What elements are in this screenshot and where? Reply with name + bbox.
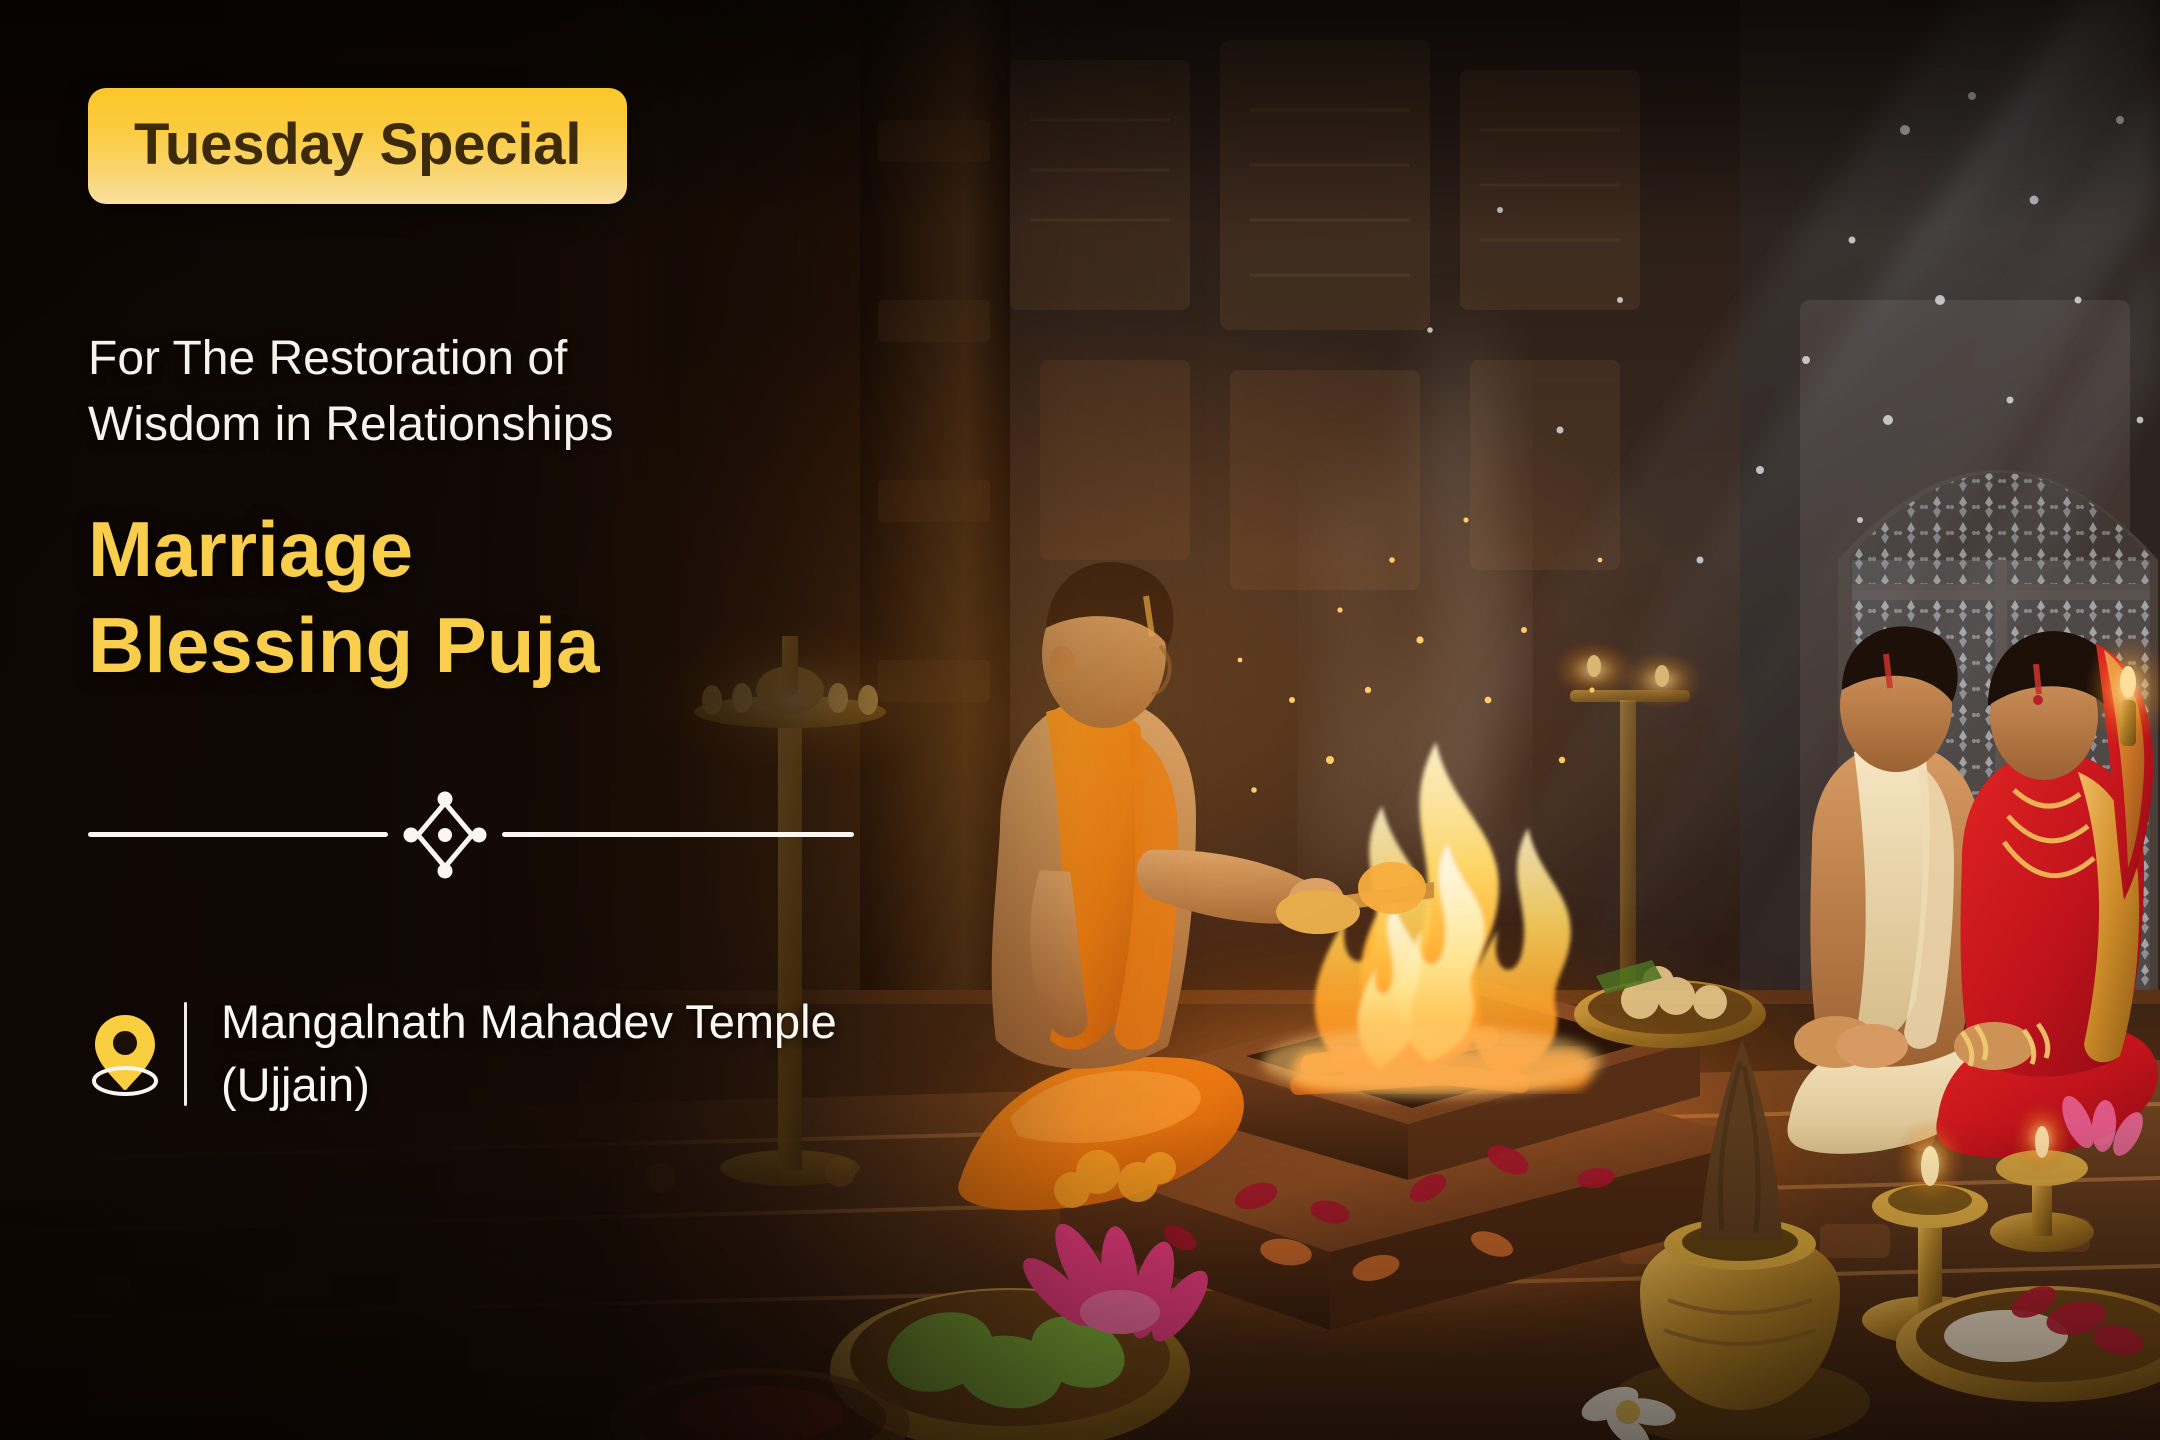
venue-line-1: Mangalnath Mahadev Temple [221,991,837,1054]
puja-promo-poster: Tuesday Special For The Restoration of W… [0,0,2160,1440]
subtitle-line-2: Wisdom in Relationships [88,392,728,458]
venue-name: Mangalnath Mahadev Temple (Ujjain) [221,991,837,1117]
title-line-2: Blessing Puja [88,598,1000,693]
venue-line-2: (Ujjain) [221,1054,837,1117]
divider-rule-left [88,832,388,837]
title-line-1: Marriage [88,502,1000,597]
map-pin-icon [88,1011,162,1097]
subtitle-line-1: For The Restoration of [88,326,728,392]
venue-block: Mangalnath Mahadev Temple (Ujjain) [88,991,1000,1117]
ornamental-divider [88,789,908,881]
poster-subtitle: For The Restoration of Wisdom in Relatio… [88,326,728,458]
divider-rule-right [502,832,854,837]
badge-label: Tuesday Special [134,116,581,174]
poster-content: Tuesday Special For The Restoration of W… [0,0,1000,1440]
tuesday-special-badge: Tuesday Special [88,88,627,204]
poster-title: Marriage Blessing Puja [88,502,1000,692]
diamond-ornament-icon [402,789,488,881]
venue-separator [184,1002,187,1106]
